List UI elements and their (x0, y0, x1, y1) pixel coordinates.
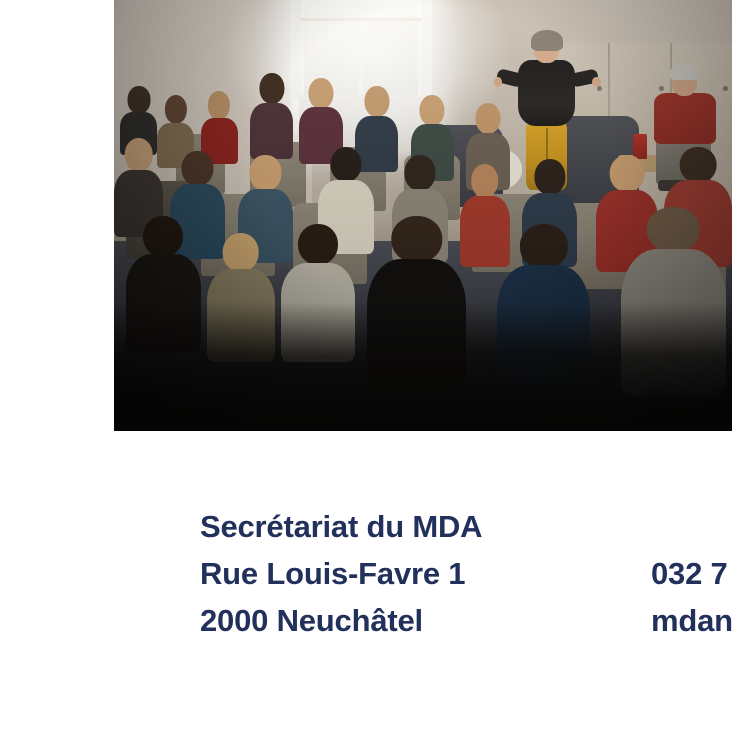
person-head (259, 73, 284, 104)
photo-scene (114, 0, 732, 431)
window-mullion-vertical (359, 0, 363, 103)
person-head (610, 155, 645, 192)
person-head (250, 155, 281, 191)
person-head (647, 207, 700, 253)
person-head (680, 147, 717, 183)
seated-man-sweater (654, 93, 715, 144)
person-head (124, 138, 153, 172)
person-head (298, 224, 338, 265)
contact-email[interactable]: mdan (651, 597, 732, 644)
person-head (534, 159, 565, 195)
person-head (330, 147, 361, 183)
person-head (182, 151, 213, 187)
person-head (404, 155, 435, 191)
contact-city: 2000 Neuchâtel (200, 597, 640, 644)
seated-man-hair (670, 64, 699, 80)
person-torso (460, 196, 509, 267)
contact-org-name: Secrétariat du MDA (200, 503, 640, 550)
person-head (475, 103, 500, 134)
person-head (391, 216, 442, 263)
contact-street: Rue Louis-Favre 1 (200, 550, 640, 597)
person-torso (250, 103, 293, 160)
speaker-hair (531, 30, 563, 51)
person-head (222, 233, 259, 272)
person-head (308, 78, 333, 109)
audience-person (460, 164, 509, 267)
speaker-top (518, 60, 576, 126)
hero-photo (114, 0, 732, 431)
speaker-left-hand (494, 77, 502, 88)
person-head (420, 95, 445, 126)
person-head (208, 91, 230, 120)
person-head (519, 224, 567, 269)
audience-person (250, 73, 293, 159)
person-head (127, 86, 150, 114)
person-head (471, 164, 499, 198)
foreground-shadow (114, 302, 732, 431)
person-head (364, 86, 389, 117)
contact-address-column: Secrétariat du MDA Rue Louis-Favre 1 200… (200, 503, 640, 644)
cabinet-handle-icon (723, 86, 728, 91)
window-mullion-horizontal (301, 18, 420, 21)
person-head (143, 216, 183, 257)
person-head (165, 95, 187, 124)
contact-details-column: 032 7 mdan (651, 550, 732, 644)
contact-phone[interactable]: 032 7 (651, 550, 732, 597)
